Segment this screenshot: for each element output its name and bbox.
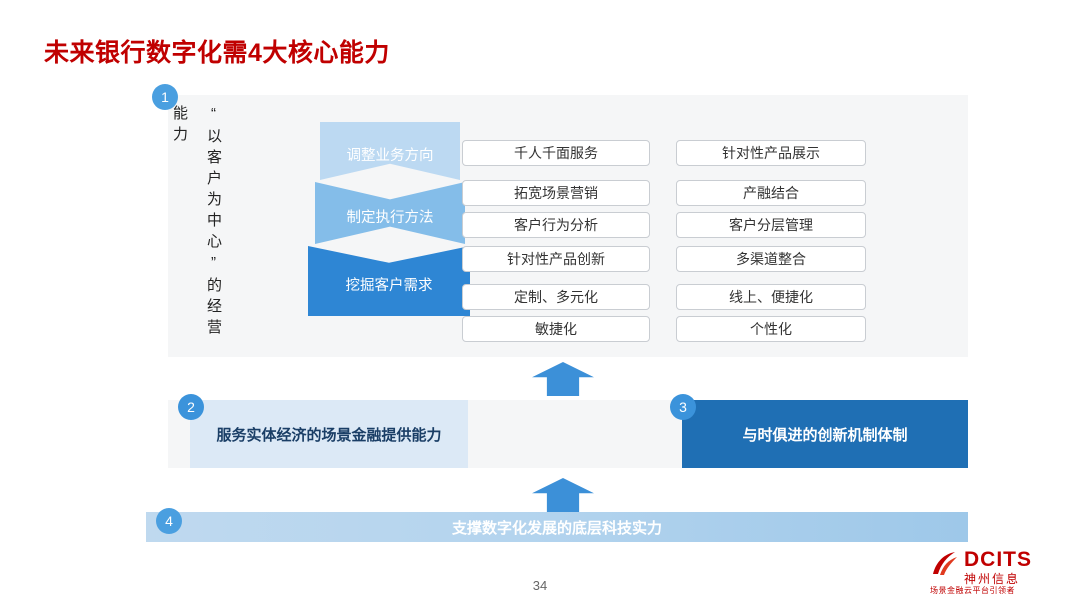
brand-logo: DCITS 神州信息 场景金融云平台引领者 <box>930 548 1058 594</box>
capability-b-4: 多渠道整合 <box>676 246 866 272</box>
logo-wordmark: DCITS <box>964 548 1032 572</box>
capability-a-4: 针对性产品创新 <box>462 246 650 272</box>
capability-a-1: 千人千面服务 <box>462 140 650 166</box>
logo-tagline: 场景金融云平台引领者 <box>930 585 1015 596</box>
chevron-step-2-label: 制定执行方法 <box>347 206 434 227</box>
badge-3: 3 <box>670 394 696 420</box>
vertical-quote-text: “以客户为中心”的经营能力 <box>196 105 230 353</box>
capability-b-1: 针对性产品展示 <box>676 140 866 166</box>
capability-a-2: 拓宽场景营销 <box>462 180 650 206</box>
slide-root: 未来银行数字化需4大核心能力 1 “以客户为中心”的经营能力 调整业务方向 制定… <box>0 0 1080 608</box>
capability-b-5: 线上、便捷化 <box>676 284 866 310</box>
capability-a-6: 敏捷化 <box>462 316 650 342</box>
up-arrow-icon-lower <box>532 478 594 512</box>
page-title: 未来银行数字化需4大核心能力 <box>44 33 390 69</box>
badge-2: 2 <box>178 394 204 420</box>
panel-scenario-finance: 服务实体经济的场景金融提供能力 <box>190 400 468 468</box>
capability-a-3: 客户行为分析 <box>462 212 650 238</box>
badge-1: 1 <box>152 84 178 110</box>
panel-tech-foundation: 支撑数字化发展的底层科技实力 <box>146 512 968 542</box>
panel-innovation-mechanism: 与时俱进的创新机制体制 <box>682 400 968 468</box>
capability-b-6: 个性化 <box>676 316 866 342</box>
up-arrow-icon-upper <box>532 362 594 396</box>
capability-b-3: 客户分层管理 <box>676 212 866 238</box>
dcits-mark-icon <box>930 550 960 578</box>
capability-b-2: 产融结合 <box>676 180 866 206</box>
capability-a-5: 定制、多元化 <box>462 284 650 310</box>
chevron-step-3-label: 挖掘客户需求 <box>346 274 433 295</box>
page-number: 34 <box>0 578 1080 593</box>
badge-4: 4 <box>156 508 182 534</box>
chevron-step-1-label: 调整业务方向 <box>347 144 434 165</box>
